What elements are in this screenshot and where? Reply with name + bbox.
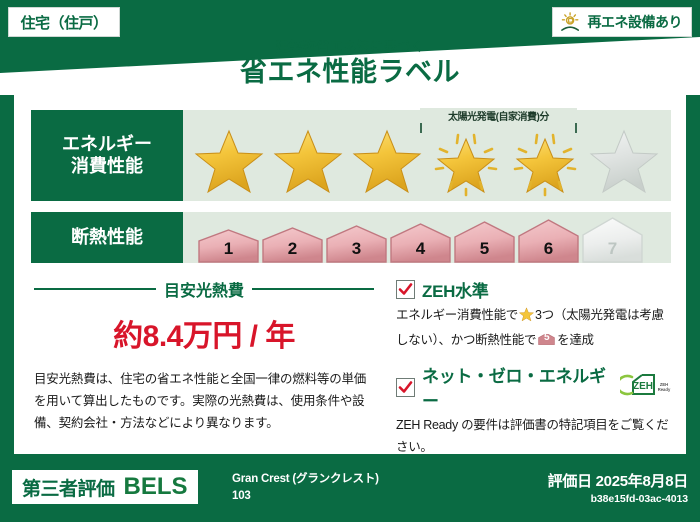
third-party-label: 第三者評価 — [22, 474, 115, 501]
energy-stars-area: 太陽光発電(自家消費)分 — [183, 110, 671, 201]
insulation-house-value: 4 — [389, 239, 452, 259]
bels-certification-box: 第三者評価 BELS — [12, 470, 198, 504]
renewable-equipment-badge: 再エネ設備あり — [552, 7, 693, 37]
check-icon — [396, 280, 415, 299]
insulation-house-value: 5 — [453, 239, 516, 259]
rule-right — [252, 288, 374, 290]
insulation-house-4: 4 — [389, 223, 452, 263]
building-info: Gran Crest (グランクレスト) 103 — [232, 471, 379, 504]
energy-performance-row: エネルギー 消費性能 太陽光発電(自家消費)分 — [31, 110, 671, 201]
insulation-house-6: 6 — [517, 219, 580, 263]
header-text: 建築物省エネ法に基づく 省エネ性能ラベル — [0, 40, 700, 88]
star-icon — [519, 311, 534, 325]
insulation-house-value: 2 — [261, 239, 324, 259]
insulation-house-value: 1 — [197, 239, 260, 259]
zeh-block: ZEH水準 エネルギー消費性能で3つ（太陽光発電は考慮しない）、かつ断熱性能で5… — [396, 277, 672, 458]
insulation-houses-area: 1 2 3 — [183, 212, 671, 263]
house-grade-value: 5 — [538, 329, 555, 346]
housing-type-tag: 住宅（住戸） — [8, 7, 120, 37]
star-solar — [505, 127, 584, 197]
zeh-netzero-header: ネット・ゼロ・エネルギー ZEH ZEH Ready — [396, 362, 672, 412]
zeh-standard-title: ZEH水準 — [422, 277, 489, 302]
energy-performance-label: エネルギー 消費性能 — [31, 110, 183, 201]
svg-text:ZEH: ZEH — [633, 381, 653, 392]
star-filled — [268, 127, 347, 197]
evaluation-id: b38e15fd-03ac-4013 — [548, 493, 688, 505]
star-solar — [426, 127, 505, 197]
energy-cost-value: 約8.4万円 / 年 — [34, 311, 374, 355]
zeh-standard-text: エネルギー消費性能で3つ（太陽光発電は考慮しない）、かつ断熱性能で5を達成 — [396, 305, 672, 351]
star-empty — [584, 127, 663, 197]
insulation-house-value: 3 — [325, 239, 388, 259]
rule-left — [34, 288, 156, 290]
renewable-badge-label: 再エネ設備あり — [588, 12, 683, 32]
label-root: 住宅（住戸） 再エネ設備あり 建築物省エネ法に基づく 省エネ性能ラベル — [0, 0, 700, 522]
main-card: エネルギー 消費性能 太陽光発電(自家消費)分 — [14, 95, 686, 454]
insulation-house-1: 1 — [197, 229, 260, 263]
housing-type-label: 住宅（住戸） — [20, 12, 107, 33]
zeh-netzero-title: ネット・ゼロ・エネルギー — [422, 362, 608, 412]
star-filled — [347, 127, 426, 197]
insulation-house-value: 7 — [581, 239, 644, 259]
insulation-house-value: 6 — [517, 239, 580, 259]
zeh-text-part1: エネルギー消費性能で — [396, 308, 518, 322]
energy-cost-title-row: 目安光熱費 — [34, 277, 374, 301]
zeh-netzero-text: ZEH Ready の要件は評価書の特記項目をご覧ください。 — [396, 415, 672, 458]
evaluation-date: 評価日 2025年8月8日 — [548, 470, 688, 491]
check-icon — [396, 378, 415, 397]
energy-cost-title: 目安光熱費 — [164, 277, 244, 301]
svg-text:Ready: Ready — [658, 387, 671, 392]
solar-bracket-label: 太陽光発電(自家消費)分 — [420, 108, 577, 123]
insulation-house-5: 5 — [453, 221, 516, 263]
insulation-performance-label: 断熱性能 — [31, 212, 183, 263]
energy-cost-note: 目安光熱費は、住宅の省エネ性能と全国一律の燃料等の単価を用いて算出したものです。… — [34, 369, 374, 435]
insulation-house-3: 3 — [325, 225, 388, 263]
zeh-text-part3: を達成 — [557, 333, 594, 347]
building-name: Gran Crest (グランクレスト) — [232, 471, 379, 488]
insulation-house-2: 2 — [261, 227, 324, 263]
energy-label-line1: エネルギー — [62, 134, 152, 156]
insulation-house-7: 7 — [581, 217, 644, 263]
insulation-grade-scale: 1 2 3 — [183, 212, 671, 263]
house-grade-icon: 5 — [538, 331, 555, 347]
bels-logo: BELS — [124, 473, 188, 501]
energy-cost-block: 目安光熱費 約8.4万円 / 年 目安光熱費は、住宅の省エネ性能と全国一律の燃料… — [34, 277, 374, 435]
page-title: 省エネ性能ラベル — [0, 56, 700, 88]
header-subtitle: 建築物省エネ法に基づく — [0, 40, 700, 53]
zeh-standard-header: ZEH水準 — [396, 277, 672, 302]
sun-solar-icon — [560, 12, 582, 32]
unit-number: 103 — [232, 488, 379, 505]
star-filled — [189, 127, 268, 197]
evaluation-info: 評価日 2025年8月8日 b38e15fd-03ac-4013 — [548, 470, 688, 505]
energy-label-line2: 消費性能 — [62, 156, 152, 178]
footer: 第三者評価 BELS Gran Crest (グランクレスト) 103 評価日 … — [0, 462, 700, 522]
insulation-performance-row: 断熱性能 — [31, 212, 671, 263]
star-rating — [183, 124, 671, 199]
zeh-star-count: 3つ — [535, 308, 554, 322]
zeh-ready-logo: ZEH ZEH Ready — [620, 372, 672, 403]
